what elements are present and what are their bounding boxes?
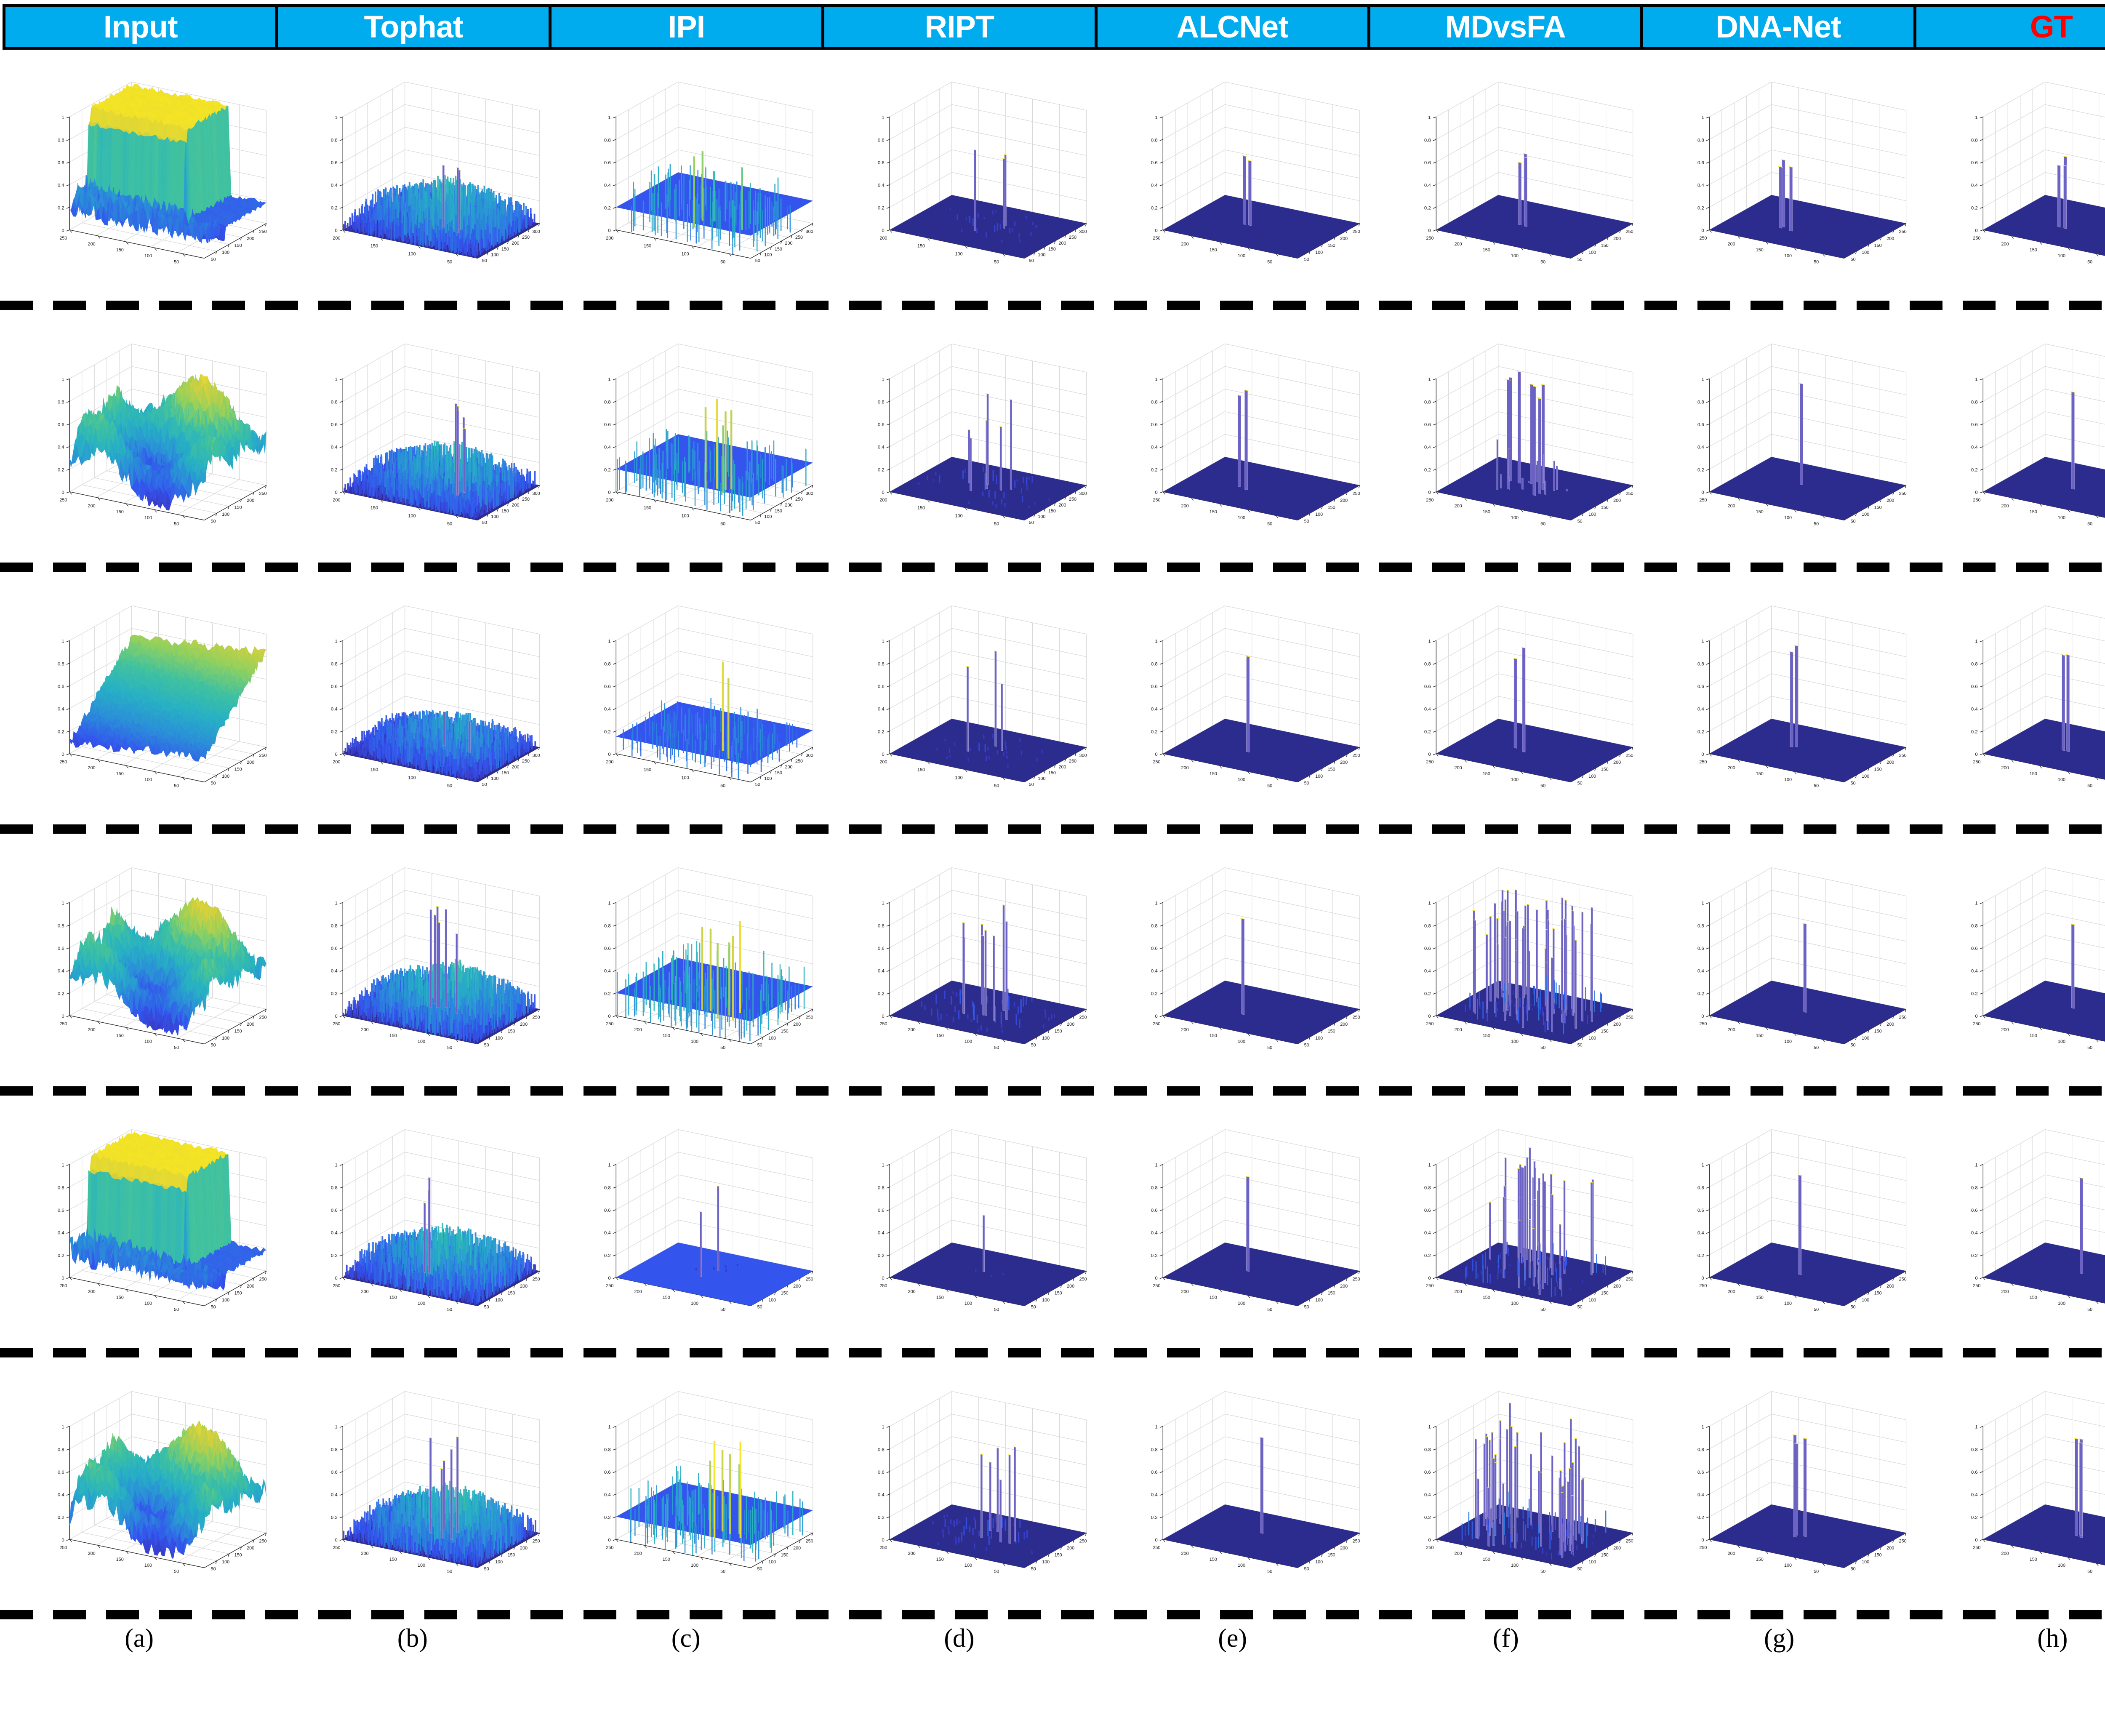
surface-plot-ript-row2: 00.20.40.60.8120015010050501001502002503… <box>823 312 1096 560</box>
axes-input: 00.20.40.60.8125020015010050501001502002… <box>30 322 270 550</box>
svg-text:50: 50 <box>1814 259 1819 264</box>
svg-text:100: 100 <box>144 253 152 259</box>
surface-plot-ipi-row3: 00.20.40.60.8120015010050501001502002503… <box>549 573 823 822</box>
surface-data <box>1436 371 1633 520</box>
axes-ipi: 00.20.40.60.8125020015010050501001502002… <box>576 845 817 1074</box>
axes-gt: 00.20.40.60.8125020015010050501001502002… <box>1943 1369 2105 1598</box>
axes-ipi: 00.20.40.60.8120015010050501001502002503… <box>576 322 817 550</box>
svg-text:0: 0 <box>1428 228 1431 233</box>
plot-row: 00.20.40.60.8125020015010050501001502002… <box>0 835 2105 1084</box>
svg-text:0.4: 0.4 <box>1424 183 1431 188</box>
subfigure-label-dnanet: (g) <box>1643 1621 1916 1653</box>
surface-plot-alcnet-row6: 00.20.40.60.8125020015010050501001502002… <box>1096 1359 1369 1608</box>
svg-text:0.2: 0.2 <box>604 205 611 211</box>
surface-data <box>1710 1174 1906 1306</box>
svg-text:1: 1 <box>1975 115 1977 120</box>
svg-text:1: 1 <box>882 115 884 120</box>
svg-text:0.2: 0.2 <box>331 205 338 211</box>
svg-text:0.4: 0.4 <box>58 183 65 188</box>
surface-data <box>343 403 539 520</box>
axes-input: 00.20.40.60.8125020015010050501001502002… <box>30 1107 270 1336</box>
axes-input: 00.20.40.60.8125020015010050501001502002… <box>30 584 270 812</box>
subfigure-label-ript: (d) <box>823 1621 1096 1653</box>
surface-plot-gt-row4: 00.20.40.60.8125020015010050501001502002… <box>1916 835 2105 1084</box>
svg-text:50: 50 <box>721 259 726 264</box>
svg-text:1: 1 <box>1155 115 1157 120</box>
svg-text:0.2: 0.2 <box>878 205 885 211</box>
surface-data <box>69 374 266 510</box>
surface-plot-dnanet-row1: 00.20.40.60.8125020015010050501001502002… <box>1643 50 1916 298</box>
svg-text:0.6: 0.6 <box>878 160 885 165</box>
column-header-dnanet: DNA-Net <box>1640 4 1916 50</box>
axes-ript: 00.20.40.60.8125020015010050501001502002… <box>850 845 1090 1074</box>
axes-grid: 00.20.40.60.8125020015010050501001502002… <box>604 867 813 1050</box>
surface-plot-tophat-row4: 00.20.40.60.8125020015010050501001502002… <box>276 835 549 1084</box>
svg-text:150: 150 <box>370 243 378 248</box>
surface-data <box>69 897 266 1036</box>
row-divider <box>0 1610 2105 1619</box>
surface-plot-dnanet-row4: 00.20.40.60.8125020015010050501001502002… <box>1643 835 1916 1084</box>
surface-data <box>1436 1147 1633 1306</box>
column-header-tophat: Tophat <box>275 4 551 50</box>
subfigure-label-mdvsfa: (f) <box>1369 1621 1642 1653</box>
svg-text:0: 0 <box>335 228 338 233</box>
surface-plot-dnanet-row3: 00.20.40.60.8125020015010050501001502002… <box>1643 573 1916 822</box>
axes-tophat: 00.20.40.60.8120015010050501001502002503… <box>303 584 544 812</box>
svg-text:100: 100 <box>1238 253 1245 259</box>
svg-text:200: 200 <box>785 241 793 246</box>
svg-text:250: 250 <box>1069 235 1076 240</box>
svg-text:0: 0 <box>608 228 611 233</box>
svg-text:0.6: 0.6 <box>331 160 338 165</box>
surface-plot-ript-row1: 00.20.40.60.8120015010050501001502002503… <box>823 50 1096 298</box>
column-header-mdvsfa: MDvsFA <box>1367 4 1643 50</box>
axes-mdvsfa: 00.20.40.60.8125020015010050501001502002… <box>1396 584 1637 812</box>
svg-text:200: 200 <box>1058 241 1066 246</box>
svg-text:150: 150 <box>917 243 925 248</box>
surface-data <box>1983 654 2105 782</box>
surface-plot-tophat-row5: 00.20.40.60.8125020015010050501001502002… <box>276 1097 549 1346</box>
svg-text:200: 200 <box>88 504 95 509</box>
surface-plot-alcnet-row1: 00.20.40.60.8125020015010050501001502002… <box>1096 50 1369 298</box>
axes-input: 00.20.40.60.8125020015010050501001502002… <box>30 845 270 1074</box>
axes-mdvsfa: 00.20.40.60.8125020015010050501001502002… <box>1396 322 1637 550</box>
svg-text:250: 250 <box>259 229 266 234</box>
svg-text:100: 100 <box>955 251 962 256</box>
surface-plot-ipi-row1: 00.20.40.60.8120015010050501001502002503… <box>549 50 823 298</box>
surface-plot-tophat-row2: 00.20.40.60.8120015010050501001502002503… <box>276 312 549 560</box>
svg-text:50: 50 <box>482 258 487 263</box>
svg-text:100: 100 <box>222 250 229 255</box>
svg-text:100: 100 <box>491 252 498 257</box>
svg-text:50: 50 <box>1577 257 1583 262</box>
svg-text:50: 50 <box>2087 259 2092 264</box>
axes-input: 00.20.40.60.8125020015010050501001502002… <box>30 60 270 288</box>
surface-data <box>1983 1438 2105 1568</box>
svg-text:300: 300 <box>533 229 540 234</box>
axes-gt: 00.20.40.60.8125020015010050501001502002… <box>1943 1107 2105 1336</box>
svg-text:150: 150 <box>775 246 782 251</box>
surface-data <box>1983 1177 2105 1306</box>
svg-text:0.6: 0.6 <box>58 422 64 427</box>
axes-tophat: 00.20.40.60.8120015010050501001502002503… <box>303 60 544 288</box>
svg-text:0.8: 0.8 <box>1697 138 1704 143</box>
svg-text:0.2: 0.2 <box>58 467 64 472</box>
svg-text:250: 250 <box>522 235 530 240</box>
surface-plot-ript-row4: 00.20.40.60.8125020015010050501001502002… <box>823 835 1096 1084</box>
svg-text:100: 100 <box>1315 250 1323 255</box>
row-divider <box>0 301 2105 310</box>
svg-text:0.4: 0.4 <box>1151 183 1158 188</box>
svg-text:0.2: 0.2 <box>58 205 64 211</box>
svg-text:200: 200 <box>879 235 887 240</box>
plot-row: 00.20.40.60.8125020015010050501001502002… <box>0 1359 2105 1608</box>
svg-text:0.4: 0.4 <box>1697 183 1705 188</box>
surface-plot-dnanet-row5: 00.20.40.60.8125020015010050501001502002… <box>1643 1097 1916 1346</box>
axes-dnanet: 00.20.40.60.8125020015010050501001502002… <box>1670 1369 1910 1598</box>
surface-data <box>69 635 266 761</box>
svg-text:100: 100 <box>222 512 229 517</box>
surface-plot-ript-row3: 00.20.40.60.8120015010050501001502002503… <box>823 573 1096 822</box>
axes-ript: 00.20.40.60.8120015010050501001502002503… <box>850 322 1090 550</box>
svg-text:150: 150 <box>2029 248 2037 253</box>
surface-plot-mdvsfa-row2: 00.20.40.60.8125020015010050501001502002… <box>1369 312 1642 560</box>
surface-data <box>1710 1434 1906 1568</box>
svg-text:150: 150 <box>1328 243 1335 248</box>
surface-data <box>1983 923 2105 1044</box>
row-divider <box>0 824 2105 834</box>
svg-text:250: 250 <box>1700 235 1707 240</box>
axes-dnanet: 00.20.40.60.8125020015010050501001502002… <box>1670 60 1910 288</box>
svg-text:0.4: 0.4 <box>604 183 611 188</box>
surface-plot-gt-row6: 00.20.40.60.8125020015010050501001502002… <box>1916 1359 2105 1608</box>
axes-dnanet: 00.20.40.60.8125020015010050501001502002… <box>1670 845 1910 1074</box>
axes-gt: 00.20.40.60.8125020015010050501001502002… <box>1943 60 2105 288</box>
surface-plot-mdvsfa-row5: 00.20.40.60.8125020015010050501001502002… <box>1369 1097 1642 1346</box>
surface-data <box>890 149 1086 258</box>
svg-text:100: 100 <box>144 515 152 520</box>
surface-data <box>616 661 813 779</box>
svg-text:250: 250 <box>1352 229 1360 234</box>
surface-plot-tophat-row3: 00.20.40.60.8120015010050501001502002503… <box>276 573 549 822</box>
axes-tophat: 00.20.40.60.8125020015010050501001502002… <box>303 845 544 1074</box>
surface-data <box>1163 656 1359 782</box>
svg-text:0.8: 0.8 <box>878 138 885 143</box>
axes-grid: 00.20.40.60.8120015010050501001502002503… <box>604 344 813 526</box>
svg-text:0.8: 0.8 <box>1424 138 1431 143</box>
svg-text:150: 150 <box>234 505 242 510</box>
surface-plot-input-row1: 00.20.40.60.8125020015010050501001502002… <box>3 50 276 298</box>
svg-text:0: 0 <box>882 228 884 233</box>
subfigure-label-alcnet: (e) <box>1096 1621 1369 1653</box>
svg-text:250: 250 <box>59 497 67 502</box>
subfigure-label-gt: (h) <box>1916 1621 2105 1653</box>
svg-text:0.2: 0.2 <box>1697 205 1704 211</box>
svg-text:200: 200 <box>1887 236 1894 241</box>
svg-text:0.6: 0.6 <box>1697 160 1704 165</box>
svg-text:200: 200 <box>512 241 520 246</box>
svg-text:200: 200 <box>247 236 254 241</box>
svg-text:200: 200 <box>88 242 95 247</box>
column-header-alcnet: ALCNet <box>1095 4 1370 50</box>
svg-text:0: 0 <box>1975 228 1977 233</box>
column-header-ipi: IPI <box>549 4 824 50</box>
svg-text:0: 0 <box>1155 228 1157 233</box>
surface-data <box>1163 1437 1359 1568</box>
svg-text:150: 150 <box>1874 243 1882 248</box>
surface-data <box>1436 1403 1633 1568</box>
surface-plot-input-row6: 00.20.40.60.8125020015010050501001502002… <box>3 1359 276 1608</box>
svg-text:0: 0 <box>61 228 64 233</box>
svg-text:250: 250 <box>1973 235 1980 240</box>
surface-plot-mdvsfa-row6: 00.20.40.60.8125020015010050501001502002… <box>1369 1359 1642 1608</box>
axes-ript: 00.20.40.60.8120015010050501001502002503… <box>850 60 1090 288</box>
svg-text:150: 150 <box>501 246 509 251</box>
surface-data <box>343 1177 539 1306</box>
svg-text:50: 50 <box>211 519 216 524</box>
svg-text:0.2: 0.2 <box>1151 205 1158 211</box>
surface-plot-alcnet-row2: 00.20.40.60.8125020015010050501001502002… <box>1096 312 1369 560</box>
svg-text:150: 150 <box>234 243 242 248</box>
axes-mdvsfa: 00.20.40.60.8125020015010050501001502002… <box>1396 845 1637 1074</box>
svg-text:50: 50 <box>755 258 760 263</box>
surface-data <box>343 1436 539 1568</box>
svg-text:50: 50 <box>1540 259 1545 264</box>
subfigure-label-tophat: (b) <box>276 1621 549 1653</box>
row-divider <box>0 1086 2105 1096</box>
svg-text:200: 200 <box>1340 236 1348 241</box>
svg-text:0.6: 0.6 <box>1971 160 1978 165</box>
axes-gt: 00.20.40.60.8125020015010050501001502002… <box>1943 322 2105 550</box>
surface-data <box>343 906 540 1044</box>
axes-dnanet: 00.20.40.60.8125020015010050501001502002… <box>1670 1107 1910 1336</box>
surface-data <box>1163 155 1359 258</box>
surface-plot-dnanet-row2: 00.20.40.60.8125020015010050501001502002… <box>1643 312 1916 560</box>
svg-text:0.4: 0.4 <box>331 183 338 188</box>
svg-text:150: 150 <box>1210 248 1217 253</box>
svg-text:200: 200 <box>1613 236 1621 241</box>
surface-plot-alcnet-row4: 00.20.40.60.8125020015010050501001502002… <box>1096 835 1369 1084</box>
axes-tophat: 00.20.40.60.8120015010050501001502002503… <box>303 322 544 550</box>
axes-alcnet: 00.20.40.60.8125020015010050501001502002… <box>1123 584 1364 812</box>
axes-dnanet: 00.20.40.60.8125020015010050501001502002… <box>1670 322 1910 550</box>
surface-plot-input-row2: 00.20.40.60.8125020015010050501001502002… <box>3 312 276 560</box>
column-header-gt: GT <box>1913 4 2105 50</box>
svg-text:200: 200 <box>606 235 614 240</box>
plot-row: 00.20.40.60.8125020015010050501001502002… <box>0 1097 2105 1346</box>
axes-ript: 00.20.40.60.8125020015010050501001502002… <box>850 1369 1090 1598</box>
svg-text:0.2: 0.2 <box>1971 205 1978 211</box>
svg-text:0.4: 0.4 <box>878 183 885 188</box>
surface-plot-mdvsfa-row4: 00.20.40.60.8125020015010050501001502002… <box>1369 835 1642 1084</box>
svg-text:1: 1 <box>335 115 338 120</box>
surface-plot-input-row3: 00.20.40.60.8125020015010050501001502002… <box>3 573 276 822</box>
svg-text:100: 100 <box>765 252 772 257</box>
svg-text:200: 200 <box>1181 242 1188 247</box>
axes-input: 00.20.40.60.8125020015010050501001502002… <box>30 1369 270 1598</box>
axes-mdvsfa: 00.20.40.60.8125020015010050501001502002… <box>1396 1107 1637 1336</box>
svg-text:200: 200 <box>1455 242 1462 247</box>
column-header-input: Input <box>3 4 278 50</box>
svg-text:150: 150 <box>1048 246 1056 251</box>
svg-text:250: 250 <box>1899 229 1907 234</box>
surface-data <box>1163 389 1359 520</box>
svg-text:1: 1 <box>1702 115 1704 120</box>
surface-plot-ipi-row4: 00.20.40.60.8125020015010050501001502002… <box>549 835 823 1084</box>
row-divider <box>0 563 2105 572</box>
svg-text:0.8: 0.8 <box>58 138 64 143</box>
svg-text:0.2: 0.2 <box>1424 205 1431 211</box>
svg-text:0.4: 0.4 <box>1971 183 1978 188</box>
svg-text:1: 1 <box>61 377 64 382</box>
svg-text:300: 300 <box>1079 229 1087 234</box>
svg-text:0.8: 0.8 <box>58 400 64 405</box>
svg-text:0.8: 0.8 <box>1971 138 1978 143</box>
svg-text:50: 50 <box>174 521 179 526</box>
axes-ipi: 00.20.40.60.8125020015010050501001502002… <box>576 1369 817 1598</box>
axes-grid: 00.20.40.60.8120015010050501001502002503… <box>604 82 813 264</box>
svg-text:0.6: 0.6 <box>1151 160 1158 165</box>
axes-mdvsfa: 00.20.40.60.8125020015010050501001502002… <box>1396 60 1637 288</box>
plot-grid: 00.20.40.60.8125020015010050501001502002… <box>0 50 2105 1619</box>
surface-plot-ipi-row2: 00.20.40.60.8120015010050501001502002503… <box>549 312 823 560</box>
surface-plot-ipi-row6: 00.20.40.60.8125020015010050501001502002… <box>549 1359 823 1608</box>
axes-gt: 00.20.40.60.8125020015010050501001502002… <box>1943 845 2105 1074</box>
svg-text:1: 1 <box>1428 115 1431 120</box>
axes-dnanet: 00.20.40.60.8125020015010050501001502002… <box>1670 584 1910 812</box>
surface-data <box>616 151 813 254</box>
svg-text:100: 100 <box>2058 253 2065 259</box>
axes-ipi: 00.20.40.60.8125020015010050501001502002… <box>576 1107 817 1336</box>
svg-text:50: 50 <box>994 259 999 264</box>
surface-plot-tophat-row6: 00.20.40.60.8125020015010050501001502002… <box>276 1359 549 1608</box>
subfigure-caption-row: (a)(b)(c)(d)(e)(f)(g)(h) <box>0 1621 2105 1676</box>
svg-text:50: 50 <box>447 259 452 264</box>
svg-text:50: 50 <box>1851 257 1856 262</box>
surface-plot-gt-row1: 00.20.40.60.8125020015010050501001502002… <box>1916 50 2105 298</box>
surface-plot-tophat-row1: 00.20.40.60.8120015010050501001502002503… <box>276 50 549 298</box>
svg-text:50: 50 <box>211 257 216 262</box>
svg-text:0.8: 0.8 <box>1151 138 1158 143</box>
row-divider <box>0 1348 2105 1357</box>
plot-row: 00.20.40.60.8125020015010050501001502002… <box>0 312 2105 560</box>
method-header-row: InputTophatIPIRIPTALCNetMDvsFADNA-NetGT <box>0 4 2105 50</box>
svg-text:250: 250 <box>1153 235 1160 240</box>
svg-text:200: 200 <box>247 498 254 503</box>
subfigure-label-ipi: (c) <box>549 1621 823 1653</box>
axes-grid: 00.20.40.60.8125020015010050501001502002… <box>604 1391 813 1574</box>
svg-text:0.4: 0.4 <box>58 445 65 450</box>
svg-text:0.8: 0.8 <box>604 138 611 143</box>
surface-plot-input-row5: 00.20.40.60.8125020015010050501001502002… <box>3 1097 276 1346</box>
svg-text:50: 50 <box>1029 258 1034 263</box>
svg-text:150: 150 <box>1601 243 1609 248</box>
svg-text:150: 150 <box>116 248 124 253</box>
surface-data <box>890 651 1086 782</box>
surface-data <box>1983 391 2105 520</box>
svg-text:0.6: 0.6 <box>604 160 611 165</box>
svg-text:200: 200 <box>1728 242 1735 247</box>
axes-ript: 00.20.40.60.8125020015010050501001502002… <box>850 1107 1090 1336</box>
svg-text:100: 100 <box>682 251 689 256</box>
plot-row: 00.20.40.60.8125020015010050501001502002… <box>0 573 2105 822</box>
axes-alcnet: 00.20.40.60.8125020015010050501001502002… <box>1123 322 1364 550</box>
svg-text:100: 100 <box>1862 250 1870 255</box>
svg-text:250: 250 <box>795 235 803 240</box>
surface-plot-ipi-row5: 00.20.40.60.8125020015010050501001502002… <box>549 1097 823 1346</box>
svg-text:150: 150 <box>116 509 124 515</box>
axes-ript: 00.20.40.60.8120015010050501001502002503… <box>850 584 1090 812</box>
svg-text:50: 50 <box>174 259 179 264</box>
svg-text:250: 250 <box>59 235 67 240</box>
axes-mdvsfa: 00.20.40.60.8125020015010050501001502002… <box>1396 1369 1637 1598</box>
axes-alcnet: 00.20.40.60.8125020015010050501001502002… <box>1123 1369 1364 1598</box>
surface-plot-mdvsfa-row3: 00.20.40.60.8125020015010050501001502002… <box>1369 573 1642 822</box>
axes-alcnet: 00.20.40.60.8125020015010050501001502002… <box>1123 60 1364 288</box>
surface-plot-alcnet-row5: 00.20.40.60.8125020015010050501001502002… <box>1096 1097 1369 1346</box>
surface-plot-ript-row6: 00.20.40.60.8125020015010050501001502002… <box>823 1359 1096 1608</box>
surface-data <box>1163 1176 1359 1305</box>
subfigure-label-input: (a) <box>3 1621 276 1653</box>
svg-text:100: 100 <box>1038 252 1045 257</box>
svg-text:50: 50 <box>1304 257 1309 262</box>
surface-plot-input-row4: 00.20.40.60.8125020015010050501001502002… <box>3 835 276 1084</box>
svg-text:200: 200 <box>2001 242 2009 247</box>
svg-text:100: 100 <box>1784 253 1792 259</box>
surface-plot-mdvsfa-row1: 00.20.40.60.8125020015010050501001502002… <box>1369 50 1642 298</box>
surface-data <box>1436 153 1633 258</box>
axes-tophat: 00.20.40.60.8125020015010050501001502002… <box>303 1369 544 1598</box>
surface-plot-gt-row3: 00.20.40.60.8125020015010050501001502002… <box>1916 573 2105 822</box>
axes-alcnet: 00.20.40.60.8125020015010050501001502002… <box>1123 1107 1364 1336</box>
svg-text:100: 100 <box>408 251 416 256</box>
surface-data <box>69 1131 266 1290</box>
svg-text:0.8: 0.8 <box>331 138 338 143</box>
svg-text:150: 150 <box>1483 248 1490 253</box>
axes-ipi: 00.20.40.60.8120015010050501001502002503… <box>576 60 817 288</box>
surface-data <box>890 393 1086 520</box>
surface-plot-gt-row2: 00.20.40.60.8125020015010050501001502002… <box>1916 312 2105 560</box>
svg-text:0: 0 <box>1702 228 1704 233</box>
svg-text:1: 1 <box>61 115 64 120</box>
svg-text:250: 250 <box>1426 235 1434 240</box>
surface-plot-alcnet-row3: 00.20.40.60.8125020015010050501001502002… <box>1096 573 1369 822</box>
svg-text:200: 200 <box>333 235 341 240</box>
axes-grid: 00.20.40.60.8120015010050501001502002503… <box>604 605 813 788</box>
surface-data <box>69 1420 266 1558</box>
surface-plot-dnanet-row6: 00.20.40.60.8125020015010050501001502002… <box>1643 1359 1916 1608</box>
axes-tophat: 00.20.40.60.8125020015010050501001502002… <box>303 1107 544 1336</box>
surface-plot-gt-row5: 00.20.40.60.8125020015010050501001502002… <box>1916 1097 2105 1346</box>
column-header-ript: RIPT <box>821 4 1097 50</box>
svg-text:0: 0 <box>61 490 64 495</box>
svg-text:150: 150 <box>644 243 651 248</box>
svg-text:0.6: 0.6 <box>1424 160 1431 165</box>
surface-plot-ript-row5: 00.20.40.60.8125020015010050501001502002… <box>823 1097 1096 1346</box>
svg-text:100: 100 <box>1588 250 1596 255</box>
svg-text:250: 250 <box>259 491 266 496</box>
svg-text:100: 100 <box>1511 253 1519 259</box>
plot-row: 00.20.40.60.8125020015010050501001502002… <box>0 50 2105 298</box>
svg-text:50: 50 <box>1267 259 1272 264</box>
surface-data <box>1163 918 1359 1044</box>
svg-text:150: 150 <box>1756 248 1764 253</box>
svg-text:250: 250 <box>1626 229 1633 234</box>
surface-data <box>69 84 266 243</box>
svg-text:1: 1 <box>608 115 611 120</box>
svg-text:0.6: 0.6 <box>58 160 64 165</box>
axes-gt: 00.20.40.60.8125020015010050501001502002… <box>1943 584 2105 812</box>
